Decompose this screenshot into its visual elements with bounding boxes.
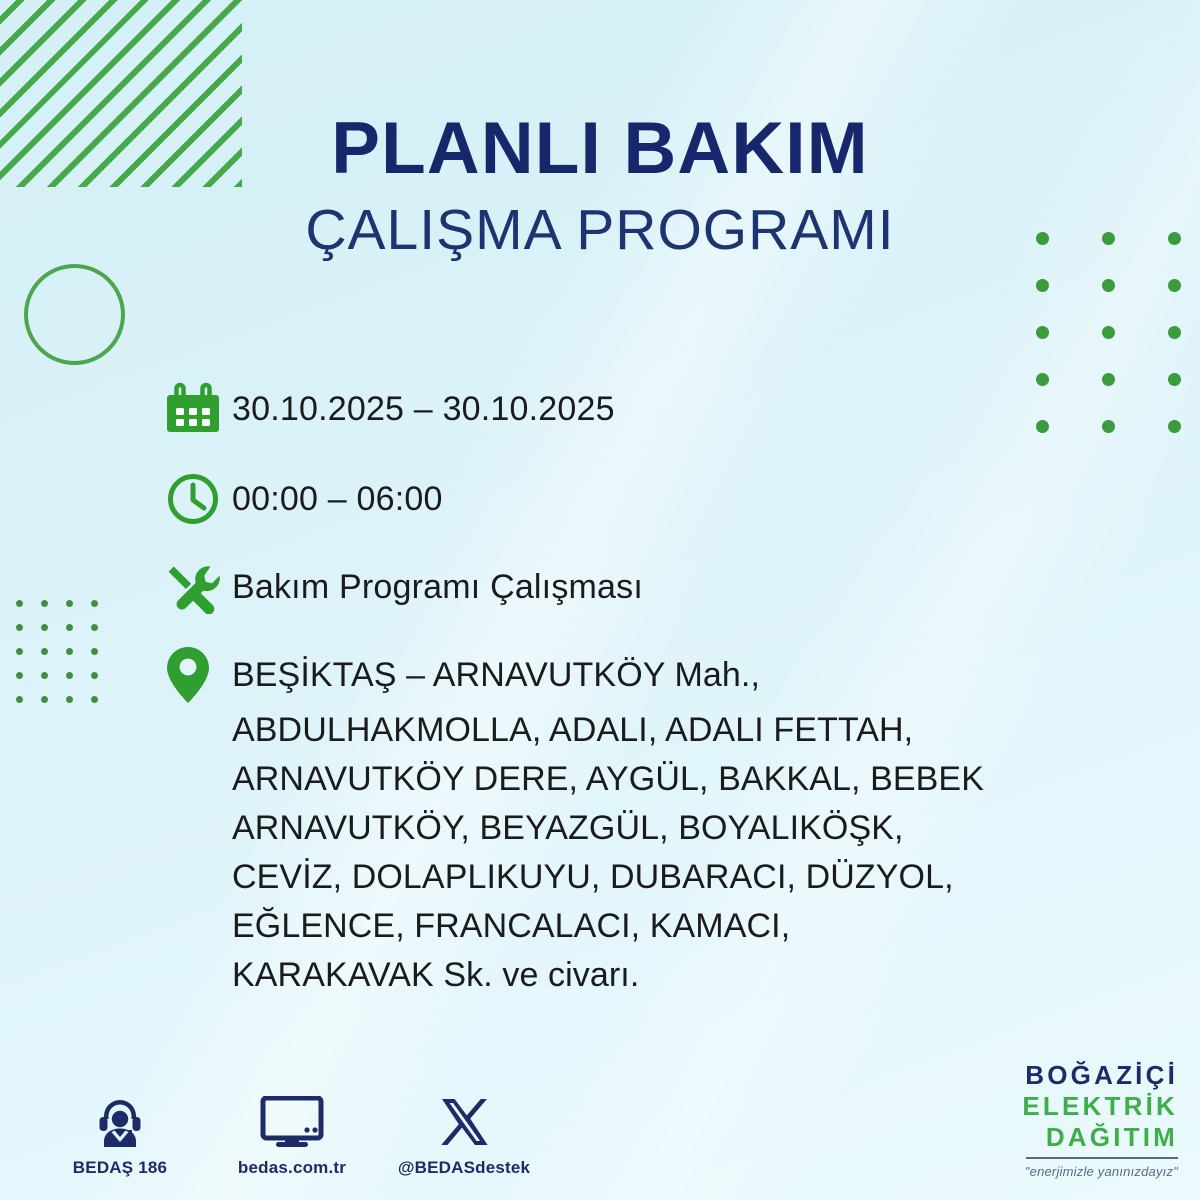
- location-pin-icon: [166, 644, 232, 706]
- address-line: KARAKAVAK Sk. ve civarı.: [232, 951, 984, 1000]
- detail-row-location: BEŞİKTAŞ – ARNAVUTKÖY Mah., ABDULHAKMOLL…: [166, 644, 1066, 1000]
- detail-row-work-type: Bakım Programı Çalışması: [166, 556, 1066, 618]
- contact-label: @BEDASdestek: [398, 1158, 530, 1178]
- affected-area-list: BEŞİKTAŞ – ARNAVUTKÖY Mah., ABDULHAKMOLL…: [232, 644, 984, 1000]
- address-line: ARNAVUTKÖY, BEYAZGÜL, BOYALIKÖŞK,: [232, 804, 984, 853]
- footer-contact-bar: BEDAŞ 186 bedas.com.tr @BEDASdestek: [60, 1090, 524, 1178]
- poster-header: PLANLI BAKIM ÇALIŞMA PROGRAMI: [0, 112, 1200, 259]
- headset-support-icon: [92, 1090, 148, 1148]
- x-twitter-icon: [438, 1090, 490, 1148]
- logo-line-elektrik: ELEKTRİK: [1022, 1093, 1178, 1119]
- maintenance-date-range: 30.10.2025 – 30.10.2025: [232, 378, 615, 440]
- page-title: PLANLI BAKIM: [0, 112, 1200, 185]
- detail-row-date: 30.10.2025 – 30.10.2025: [166, 378, 1066, 440]
- address-line: CEVİZ, DOLAPLIKUYU, DUBARACI, DÜZYOL,: [232, 853, 984, 902]
- planned-maintenance-poster: PLANLI BAKIM ÇALIŞMA PROGRAMI: [0, 0, 1200, 1200]
- logo-line-bogazici: BOĞAZİÇİ: [1022, 1062, 1178, 1088]
- clock-icon: [166, 468, 232, 530]
- logo-line-dagitim: DAĞITIM: [1022, 1124, 1178, 1150]
- maintenance-work-type: Bakım Programı Çalışması: [232, 556, 643, 618]
- logo-divider: [1026, 1157, 1178, 1159]
- address-line: EĞLENCE, FRANCALACI, KAMACI,: [232, 902, 984, 951]
- address-line: ABDULHAKMOLLA, ADALI, ADALI FETTAH,: [232, 706, 984, 755]
- dot-grid-left-decoration: [16, 600, 116, 720]
- calendar-icon: [166, 378, 232, 440]
- contact-website[interactable]: bedas.com.tr: [232, 1090, 352, 1178]
- monitor-website-icon: [260, 1090, 324, 1148]
- contact-x-account[interactable]: @BEDASdestek: [404, 1090, 524, 1178]
- logo-tagline: "enerjimizle yanınızdayız": [1022, 1165, 1178, 1178]
- detail-row-time: 00:00 – 06:00: [166, 468, 1066, 530]
- address-line: ARNAVUTKÖY DERE, AYGÜL, BAKKAL, BEBEK: [232, 755, 984, 804]
- green-circle-decoration: [24, 264, 125, 365]
- contact-label: bedas.com.tr: [238, 1158, 346, 1178]
- maintenance-details: 30.10.2025 – 30.10.2025 00:00 – 06:00: [166, 378, 1066, 1000]
- contact-label: BEDAŞ 186: [73, 1158, 167, 1178]
- company-logo: BOĞAZİÇİ ELEKTRİK DAĞITIM "enerjimizle y…: [1022, 1062, 1178, 1178]
- tools-icon: [166, 556, 232, 618]
- maintenance-time-range: 00:00 – 06:00: [232, 468, 443, 530]
- page-subtitle: ÇALIŞMA PROGRAMI: [0, 202, 1200, 259]
- address-line: BEŞİKTAŞ – ARNAVUTKÖY Mah.,: [232, 644, 984, 706]
- contact-call-center[interactable]: BEDAŞ 186: [60, 1090, 180, 1178]
